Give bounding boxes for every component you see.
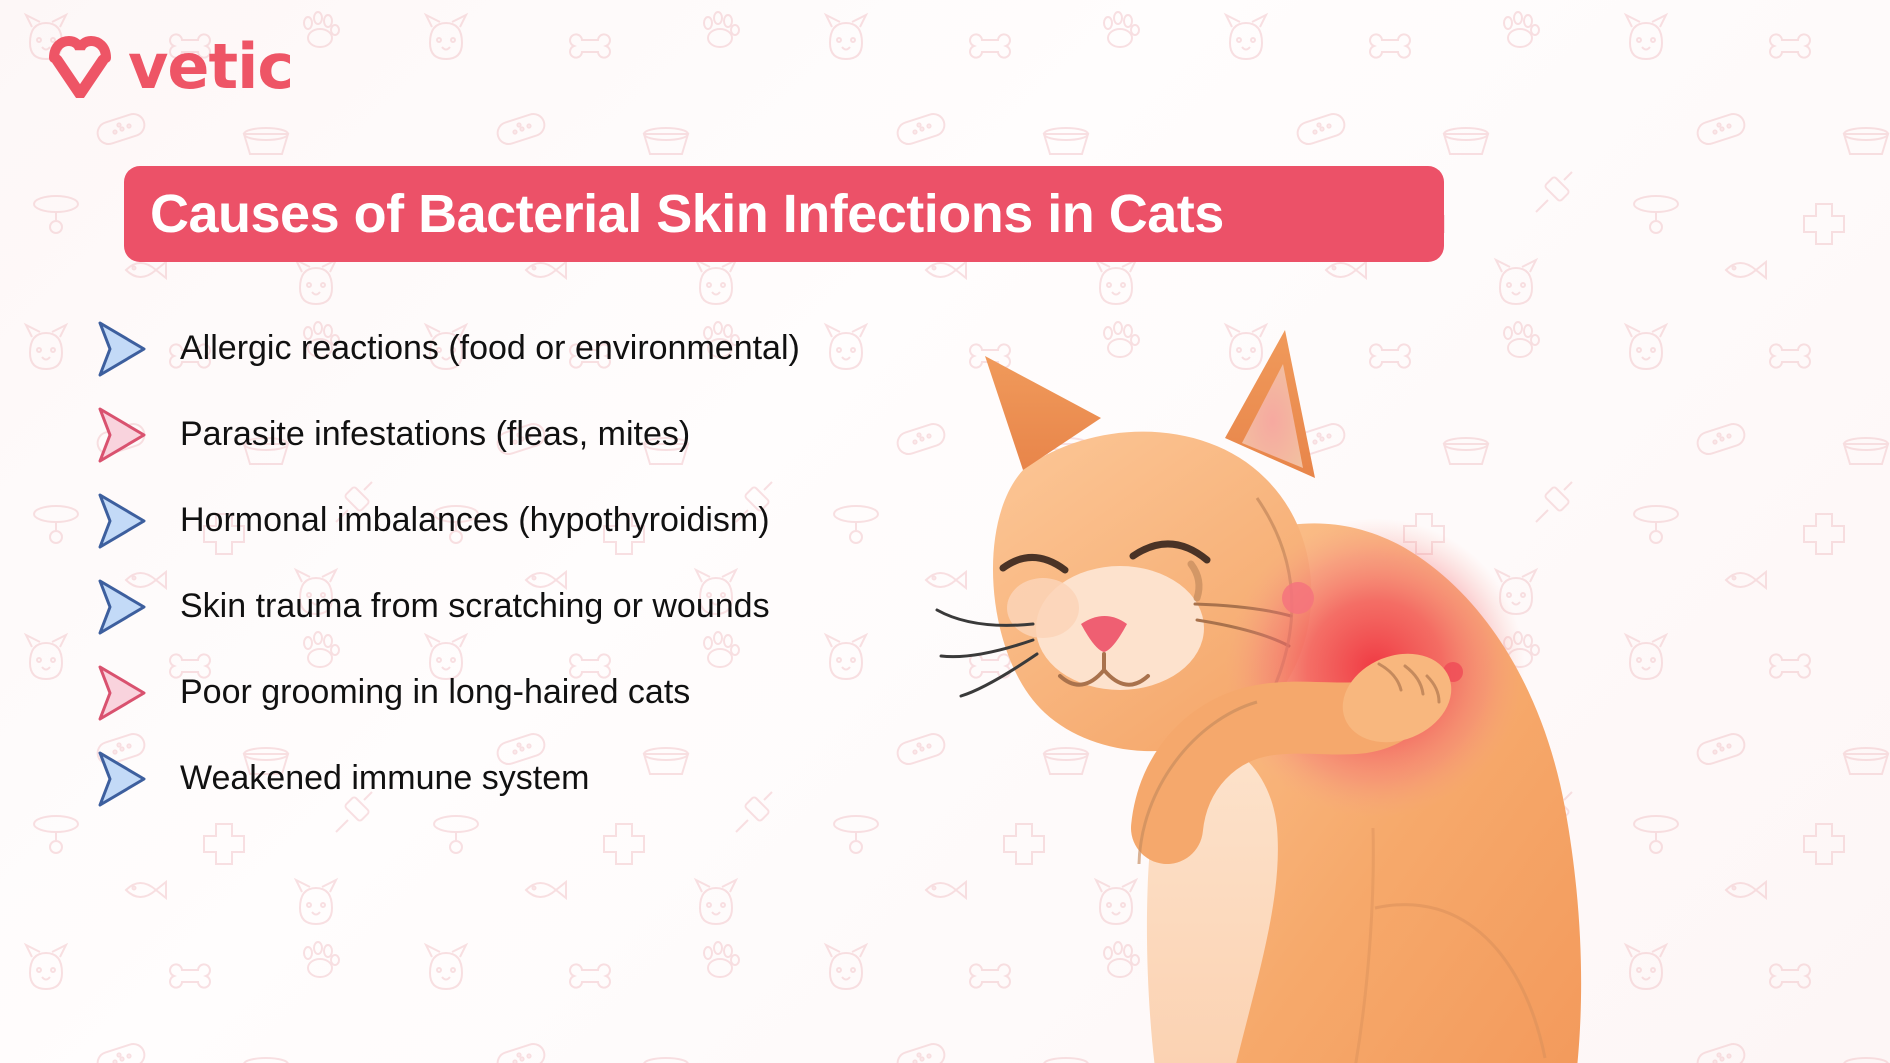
list-item: Weakened immune system bbox=[86, 736, 926, 822]
list-item: Allergic reactions (food or environmenta… bbox=[86, 306, 926, 392]
list-item-label: Parasite infestations (fleas, mites) bbox=[180, 416, 690, 453]
page-title: Causes of Bacterial Skin Infections in C… bbox=[150, 187, 1224, 241]
list-item: Parasite infestations (fleas, mites) bbox=[86, 392, 926, 478]
scratching-cat-illustration bbox=[905, 268, 1605, 1063]
chevron-arrow-icon bbox=[86, 399, 158, 471]
chevron-arrow-icon bbox=[86, 313, 158, 385]
chevron-arrow-icon bbox=[86, 657, 158, 729]
skin-lesion-spot bbox=[1282, 582, 1314, 614]
chevron-arrow-icon bbox=[86, 743, 158, 815]
heart-v-logo-icon bbox=[48, 36, 112, 98]
causes-list: Allergic reactions (food or environmenta… bbox=[86, 306, 926, 822]
list-item: Hormonal imbalances (hypothyroidism) bbox=[86, 478, 926, 564]
infographic-canvas: vetic Causes of Bacterial Skin Infection… bbox=[0, 0, 1890, 1063]
list-item: Skin trauma from scratching or wounds bbox=[86, 564, 926, 650]
brand-logo[interactable]: vetic bbox=[48, 36, 293, 98]
cat-cheek bbox=[1007, 578, 1079, 638]
brand-name: vetic bbox=[128, 36, 293, 98]
chevron-arrow-icon bbox=[86, 571, 158, 643]
list-item-label: Hormonal imbalances (hypothyroidism) bbox=[180, 502, 770, 539]
list-item-label: Poor grooming in long-haired cats bbox=[180, 674, 690, 711]
list-item-label: Allergic reactions (food or environmenta… bbox=[180, 330, 800, 367]
chevron-arrow-icon bbox=[86, 485, 158, 557]
list-item: Poor grooming in long-haired cats bbox=[86, 650, 926, 736]
list-item-label: Skin trauma from scratching or wounds bbox=[180, 588, 770, 625]
list-item-label: Weakened immune system bbox=[180, 760, 589, 797]
title-banner: Causes of Bacterial Skin Infections in C… bbox=[124, 166, 1444, 262]
